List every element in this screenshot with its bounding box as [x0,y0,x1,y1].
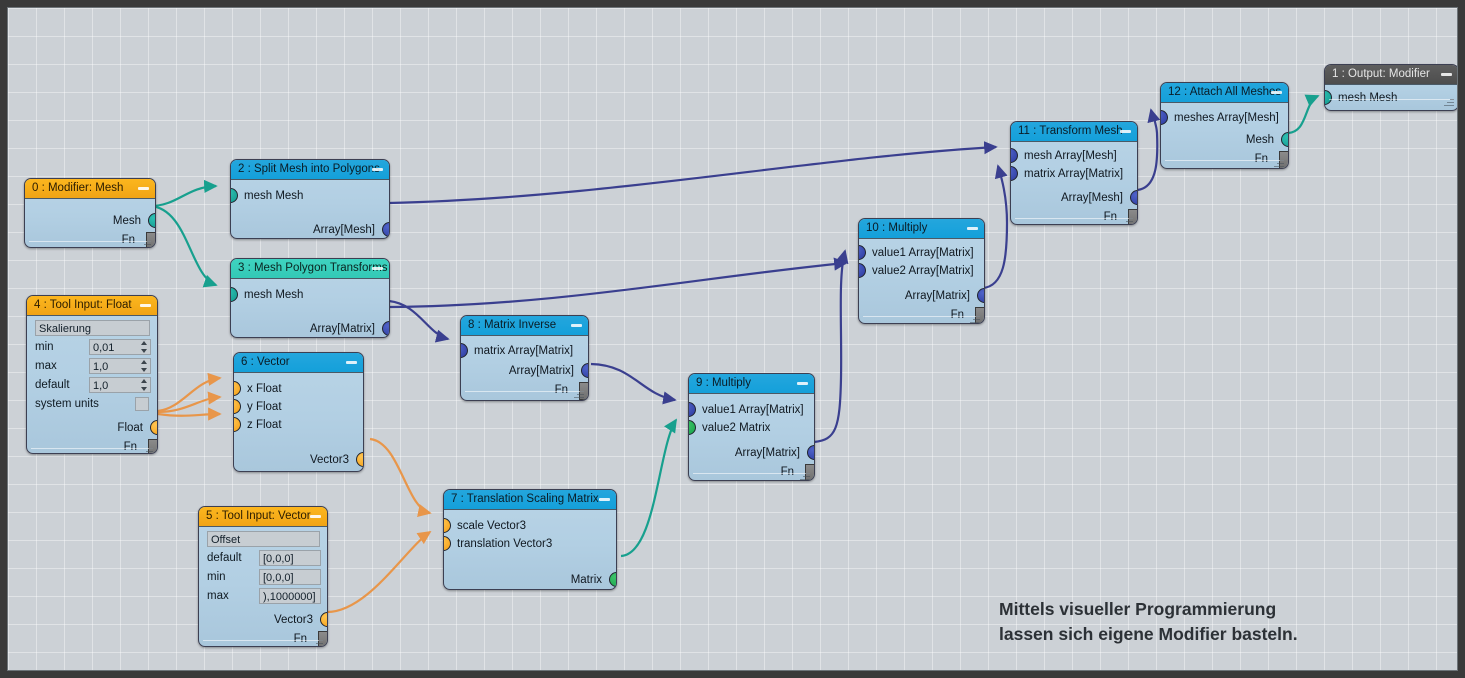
max-field[interactable]: max ),1000000] [206,588,321,605]
node-header[interactable]: 12 : Attach All Meshes [1161,83,1288,103]
minimize-icon[interactable] [138,187,149,190]
node-2-split-mesh-into-polygons[interactable]: 2 : Split Mesh into Polygons mesh Mesh A… [230,159,390,239]
max-value[interactable]: ),1000000] [259,588,321,604]
caption-text: Mittels visueller Programmierung lassen … [999,597,1429,647]
input-label: mesh Array[Mesh] [1024,150,1117,162]
min-label: min [35,339,54,356]
minimize-icon[interactable] [967,227,978,230]
node-body: mesh Mesh Array[Mesh] Fn [231,187,389,239]
input-label: mesh Mesh [244,190,303,202]
node-0-modifier-mesh[interactable]: 0 : Modifier: Mesh Mesh Fn [24,178,156,248]
node-footer [1165,160,1284,167]
node-8-matrix-inverse[interactable]: 8 : Matrix Inverse matrix Array[Matrix] … [460,315,589,401]
output-label: Array[Mesh] [1061,192,1123,204]
min-value[interactable]: [0,0,0] [259,569,321,585]
input-row[interactable]: value1 Array[Matrix] [859,244,984,262]
input-row[interactable]: scale Vector3 [444,517,616,535]
output-label: Array[Matrix] [735,447,800,459]
node-title: 2 : Split Mesh into Polygons [238,163,380,175]
node-header[interactable]: 2 : Split Mesh into Polygons [231,160,389,180]
output-label: Array[Matrix] [509,365,574,377]
max-label: max [207,588,229,605]
node-header[interactable]: 11 : Transform Mesh [1011,122,1137,142]
input-row[interactable]: matrix Array[Matrix] [1011,165,1137,183]
node-footer [31,448,153,454]
input-label: y Float [247,401,282,413]
output-label: Vector3 [274,614,313,626]
output-label: Array[Mesh] [313,224,375,236]
system-units-label: system units [35,396,99,413]
max-label: max [35,358,57,375]
input-row[interactable]: y Float [234,398,363,416]
node-header[interactable]: 8 : Matrix Inverse [461,316,588,336]
input-label: meshes Array[Mesh] [1174,112,1279,124]
output-row[interactable]: Array[Mesh] [231,221,389,239]
output-row[interactable]: Array[Matrix] [859,287,984,305]
input-row[interactable]: matrix Array[Matrix] [461,342,588,360]
output-row[interactable]: Matrix [444,571,616,589]
node-title: 0 : Modifier: Mesh [32,182,123,194]
node-header[interactable]: 3 : Mesh Polygon Transforms [231,259,389,279]
input-row[interactable]: meshes Array[Mesh] [1161,109,1288,127]
resize-grip-icon[interactable] [970,316,980,323]
socket-out-vector3[interactable] [320,612,328,627]
output-row[interactable]: Mesh [25,212,155,230]
node-footer [1015,218,1133,225]
default-label: default [207,550,242,567]
node-title: 7 : Translation Scaling Matrix [451,493,599,505]
socket-out-array-matrix[interactable] [581,363,589,378]
node-title: 10 : Multiply [866,222,927,234]
output-label: Array[Matrix] [310,323,375,335]
node-body: Offset default [0,0,0] min [0,0,0] max )… [199,531,327,647]
socket-in-matrix[interactable] [1010,166,1018,181]
system-units-checkbox[interactable] [135,397,149,411]
input-row[interactable]: value2 Matrix [689,419,814,437]
node-title: 11 : Transform Mesh [1018,125,1123,137]
resize-grip-icon[interactable] [574,391,584,398]
minimize-icon[interactable] [1120,130,1131,133]
node-4-tool-input-float[interactable]: 4 : Tool Input: Float Skalierung min 0,0… [26,295,158,454]
node-footer [1329,99,1454,106]
node-1-output-modifier[interactable]: 1 : Output: Modifier mesh Mesh [1324,64,1458,111]
minimize-icon[interactable] [1441,73,1452,76]
node-footer [693,473,810,480]
socket-in-z[interactable] [233,417,241,432]
output-label: Mesh [1246,134,1274,146]
input-label: z Float [247,419,282,431]
output-label: Array[Matrix] [905,290,970,302]
default-stepper[interactable] [140,378,149,392]
name-field[interactable]: Offset [206,531,321,548]
output-label: Float [117,422,143,434]
node-title: 4 : Tool Input: Float [34,299,132,311]
resize-grip-icon[interactable] [1123,218,1133,225]
default-field[interactable]: default 1,0 [34,377,151,394]
node-header[interactable]: 7 : Translation Scaling Matrix [444,490,616,510]
input-row[interactable]: mesh Mesh [231,187,389,205]
name-field[interactable]: Skalierung [34,320,151,337]
minimize-icon[interactable] [1271,91,1282,94]
socket-in-meshes[interactable] [1160,110,1168,125]
output-row[interactable]: Float [27,419,157,437]
node-10-multiply[interactable]: 10 : Multiply value1 Array[Matrix] value… [858,218,985,324]
minimize-icon[interactable] [372,168,383,171]
input-label: x Float [247,383,282,395]
socket-out-array-matrix[interactable] [977,288,985,303]
node-graph-canvas[interactable]: 0 : Modifier: Mesh Mesh Fn 2 : Split Mes… [7,7,1458,671]
input-row[interactable]: z Float [234,416,363,434]
output-row[interactable]: Array[Matrix] [689,444,814,462]
system-units-field[interactable]: system units [34,396,151,413]
node-title: 6 : Vector [241,356,290,368]
socket-out-vector3[interactable] [356,452,364,467]
input-label: matrix Array[Matrix] [1024,168,1123,180]
resize-grip-icon[interactable] [313,640,323,647]
input-row[interactable]: mesh Array[Mesh] [1011,147,1137,165]
output-row[interactable]: Vector3 [199,611,327,629]
output-row[interactable]: Vector3 [234,451,363,469]
socket-in-scale[interactable] [443,518,451,533]
node-title: 3 : Mesh Polygon Transforms [238,262,388,274]
node-header[interactable]: 6 : Vector [234,353,363,373]
socket-in-mesh[interactable] [1010,148,1018,163]
min-label: min [207,569,226,586]
output-row[interactable]: Array[Matrix] [461,362,588,380]
output-row[interactable]: Array[Mesh] [1011,189,1137,207]
input-label: mesh Mesh [244,289,303,301]
socket-out-array-matrix[interactable] [807,445,815,460]
default-value[interactable]: [0,0,0] [259,550,321,566]
node-footer [203,640,323,647]
input-label: value2 Array[Matrix] [872,265,974,277]
socket-in-mesh[interactable] [230,188,238,203]
socket-out-array-matrix[interactable] [382,321,390,336]
min-field[interactable]: min 0,01 [34,339,151,356]
node-header[interactable]: 0 : Modifier: Mesh [25,179,155,199]
fn-socket[interactable] [354,471,364,472]
node-body: value1 Array[Matrix] value2 Matrix Array… [689,401,814,481]
output-label: Matrix [571,574,602,586]
output-row[interactable]: Mesh [1161,131,1288,149]
node-header[interactable]: 10 : Multiply [859,219,984,239]
input-label: scale Vector3 [457,520,526,532]
node-body: value1 Array[Matrix] value2 Array[Matrix… [859,244,984,324]
node-body: Mesh Fn [25,212,155,248]
minimize-icon[interactable] [372,267,383,270]
node-body: matrix Array[Matrix] Array[Matrix] Fn [461,342,588,400]
app-window: 0 : Modifier: Mesh Mesh Fn 2 : Split Mes… [0,0,1465,678]
output-label: Mesh [113,215,141,227]
minimize-icon[interactable] [346,361,357,364]
node-header[interactable]: 4 : Tool Input: Float [27,296,157,316]
socket-out-array-mesh[interactable] [382,222,390,237]
node-title: 8 : Matrix Inverse [468,319,556,331]
caption-line-1: Mittels visueller Programmierung [999,597,1429,622]
node-body: mesh Mesh [1325,89,1458,107]
node-footer [863,316,980,323]
input-row[interactable]: mesh Mesh [231,286,389,304]
node-6-vector[interactable]: 6 : Vector x Float y Float z Float Vecto… [233,352,364,472]
default-field[interactable]: default [0,0,0] [206,550,321,567]
socket-in-mesh[interactable] [230,287,238,302]
input-label: value1 Array[Matrix] [872,247,974,259]
resize-grip-icon[interactable] [800,473,810,480]
node-body: x Float y Float z Float Vector3 Fn [234,380,363,472]
node-body: meshes Array[Mesh] Mesh Fn [1161,109,1288,169]
socket-in-y[interactable] [233,399,241,414]
resize-grip-icon[interactable] [1274,160,1284,167]
socket-in-x[interactable] [233,381,241,396]
node-body: scale Vector3 translation Vector3 Matrix… [444,517,616,590]
minimize-icon[interactable] [310,515,321,518]
node-7-translation-scaling-matrix[interactable]: 7 : Translation Scaling Matrix scale Vec… [443,489,617,590]
node-header[interactable]: 9 : Multiply [689,374,814,394]
resize-grip-icon[interactable] [141,241,151,248]
node-body: mesh Mesh Array[Matrix] Fn [231,286,389,338]
socket-in-matrix[interactable] [460,343,468,358]
input-row[interactable]: translation Vector3 [444,535,616,553]
name-value[interactable]: Skalierung [35,320,150,336]
default-label: default [35,377,70,394]
output-label: Vector3 [310,454,349,466]
fn-row[interactable]: Fn [444,589,616,590]
name-value[interactable]: Offset [207,531,320,547]
input-row[interactable]: x Float [234,380,363,398]
node-5-tool-input-vector[interactable]: 5 : Tool Input: Vector Offset default [0… [198,506,328,647]
input-row[interactable]: value1 Array[Matrix] [689,401,814,419]
socket-out-float[interactable] [150,420,158,435]
node-footer [465,391,584,398]
node-footer [29,241,151,248]
input-label: value1 Array[Matrix] [702,404,804,416]
min-field[interactable]: min [0,0,0] [206,569,321,586]
output-row[interactable]: Array[Matrix] [231,320,389,338]
minimize-icon[interactable] [140,304,151,307]
node-title: 1 : Output: Modifier [1332,68,1430,80]
resize-grip-icon[interactable] [1444,99,1454,106]
node-body: Skalierung min 0,01 max 1,0 default 1,0 [27,320,157,454]
input-label: translation Vector3 [457,538,552,550]
socket-in-translation[interactable] [443,536,451,551]
socket-in-value1[interactable] [688,402,696,417]
node-header[interactable]: 1 : Output: Modifier [1325,65,1458,85]
socket-out-mesh[interactable] [1281,132,1289,147]
node-header[interactable]: 5 : Tool Input: Vector [199,507,327,527]
node-body: mesh Array[Mesh] matrix Array[Matrix] Ar… [1011,147,1137,225]
node-9-multiply[interactable]: 9 : Multiply value1 Array[Matrix] value2… [688,373,815,481]
minimize-icon[interactable] [797,382,808,385]
minimize-icon[interactable] [571,324,582,327]
max-field[interactable]: max 1,0 [34,358,151,375]
input-label: value2 Matrix [702,422,770,434]
input-label: matrix Array[Matrix] [474,345,573,357]
minimize-icon[interactable] [599,498,610,501]
node-title: 12 : Attach All Meshes [1168,86,1281,98]
socket-out-array-mesh[interactable] [1130,190,1138,205]
min-stepper[interactable] [140,340,149,354]
socket-out-mesh[interactable] [148,213,156,228]
node-11-transform-mesh[interactable]: 11 : Transform Mesh mesh Array[Mesh] mat… [1010,121,1138,225]
node-title: 5 : Tool Input: Vector [206,510,311,522]
max-stepper[interactable] [140,359,149,373]
node-3-mesh-polygon-transforms[interactable]: 3 : Mesh Polygon Transforms mesh Mesh Ar… [230,258,390,338]
input-row[interactable]: value2 Array[Matrix] [859,262,984,280]
socket-in-value2[interactable] [688,420,696,435]
node-title: 9 : Multiply [696,377,751,389]
caption-line-2: lassen sich eigene Modifier basteln. [999,622,1429,647]
fn-row[interactable]: Fn [234,469,363,472]
socket-in-value2[interactable] [858,263,866,278]
socket-in-value1[interactable] [858,245,866,260]
resize-grip-icon[interactable] [143,448,153,454]
node-12-attach-all-meshes[interactable]: 12 : Attach All Meshes meshes Array[Mesh… [1160,82,1289,169]
socket-out-matrix[interactable] [609,572,617,587]
